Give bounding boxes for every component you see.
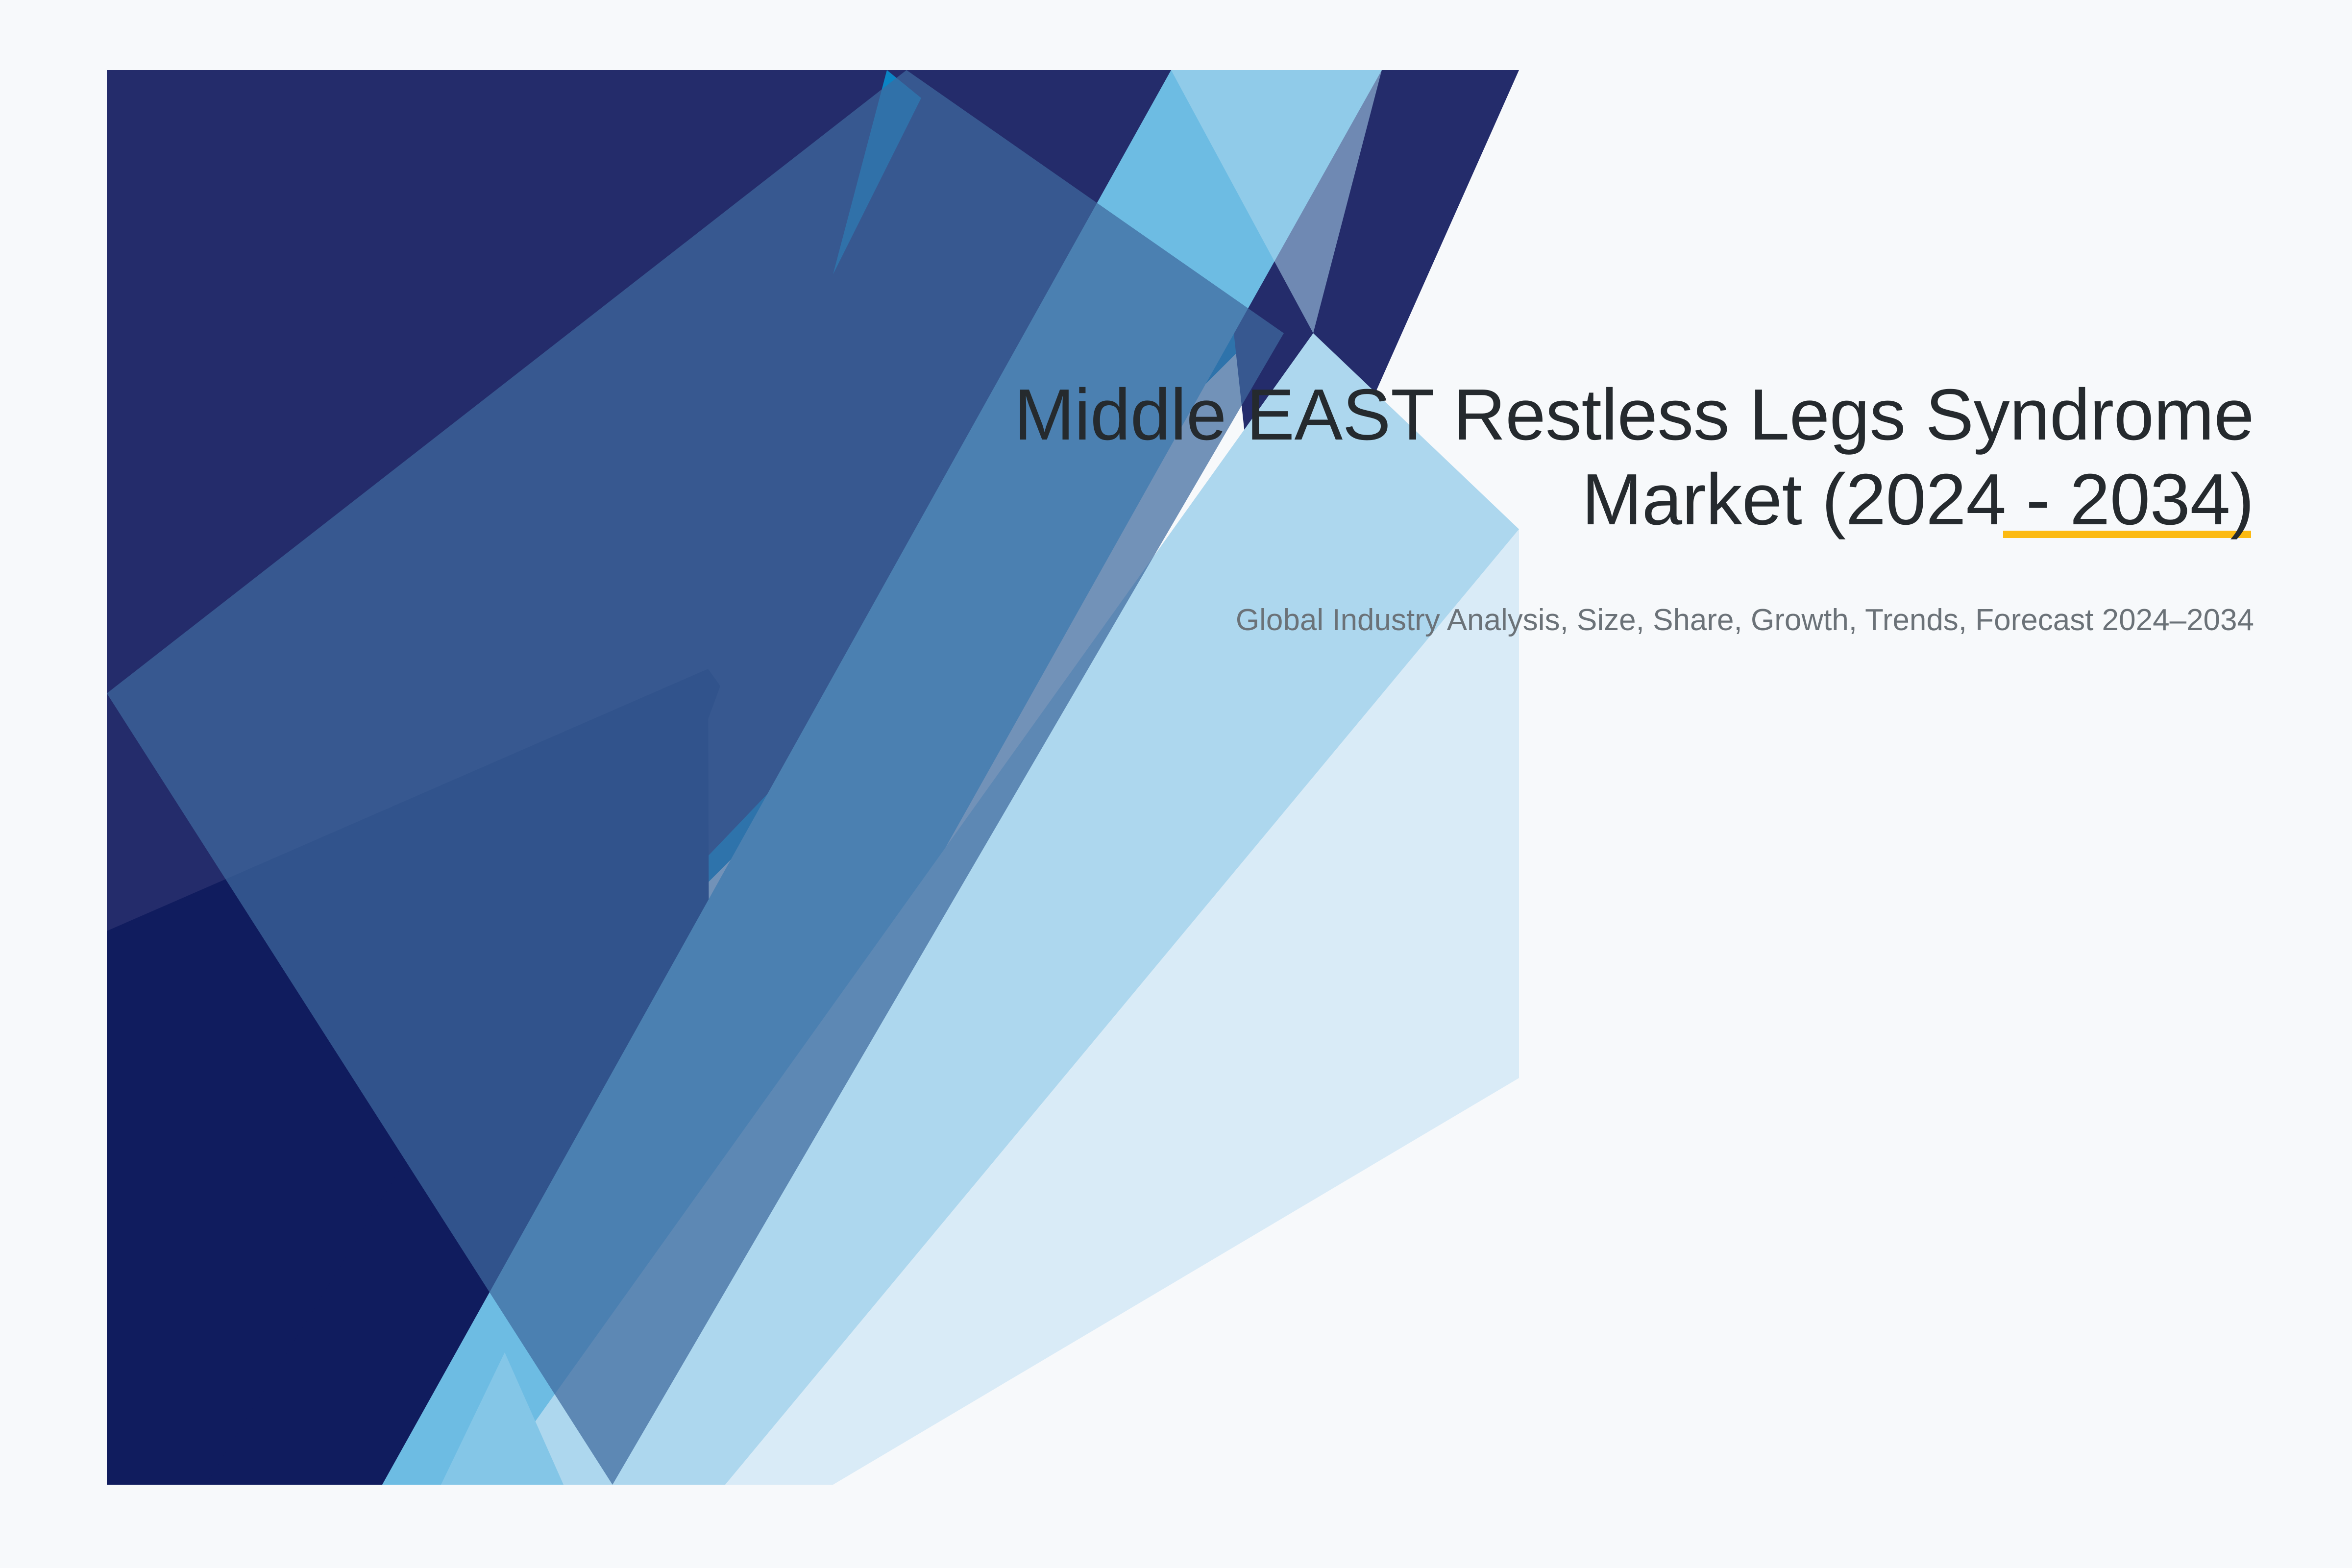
shape-dark-navy-bottom: [107, 669, 710, 1485]
page-subtitle: Global Industry Analysis, Size, Share, G…: [833, 600, 2254, 641]
page-title: Middle EAST Restless Legs Syndrome Marke…: [833, 372, 2254, 542]
shape-steel-blue-overlay: [107, 70, 1284, 1485]
cover-text-block: Middle EAST Restless Legs Syndrome Marke…: [833, 372, 2254, 641]
shape-navy-top-triangle: [107, 70, 1519, 1485]
abstract-geometric-artwork: [0, 0, 2352, 1568]
shape-dark-navy-spike: [206, 669, 720, 1485]
shape-cyan-base: [107, 70, 1519, 1485]
shape-sky-blue-band: [382, 70, 1382, 1485]
shape-sky-blue-tail: [441, 1352, 563, 1485]
cover-page: Middle EAST Restless Legs Syndrome Marke…: [0, 0, 2352, 1568]
shape-cyan-sliver-two: [833, 70, 921, 274]
shape-pale-wash: [725, 529, 1519, 1485]
shape-pale-blue-facet: [1171, 70, 1382, 333]
